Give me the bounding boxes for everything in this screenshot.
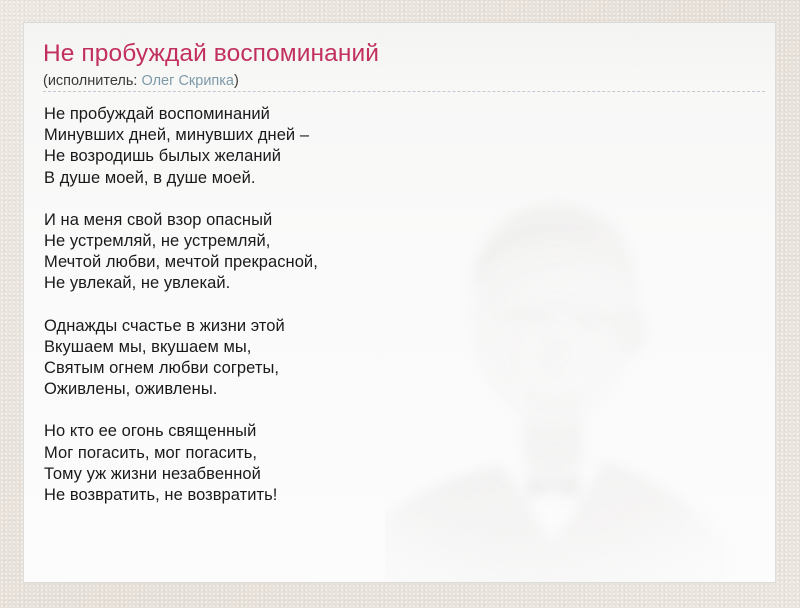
lyric-line: Святым огнем любви согреты, [44, 358, 765, 379]
lyrics-stanza: И на меня свой взор опасный Не устремляй… [44, 210, 765, 295]
lyric-line: Но кто ее огонь священный [44, 421, 765, 442]
lyric-line: Однажды счастье в жизни этой [44, 316, 765, 337]
page-background: Не пробуждай воспоминаний (исполнитель: … [0, 0, 800, 608]
lyrics-body: Не пробуждай воспоминаний Минувших дней,… [44, 104, 765, 506]
lyric-line: Минувших дней, минувших дней – [44, 125, 765, 146]
lyrics-stanza: Но кто ее огонь священный Мог погасить, … [44, 421, 765, 506]
performer-suffix-label: ) [234, 73, 239, 89]
header-divider [43, 91, 765, 92]
lyric-line: Не устремляй, не устремляй, [44, 231, 765, 252]
page-title: Не пробуждай воспоминаний [43, 39, 759, 69]
lyric-line: Мог погасить, мог погасить, [44, 443, 765, 464]
lyrics-stanza: Не пробуждай воспоминаний Минувших дней,… [44, 104, 765, 189]
performer-link[interactable]: Олег Скрипка [141, 73, 234, 89]
lyric-line: Вкушаем мы, вкушаем мы, [44, 337, 765, 358]
lyric-line: Не увлекай, не увлекай. [44, 273, 765, 294]
lyric-line: Тому уж жизни незабвенной [44, 464, 765, 485]
lyric-line: Мечтой любви, мечтой прекрасной, [44, 252, 765, 273]
lyric-line: Оживлены, оживлены. [44, 379, 765, 400]
lyric-line: Не возвратить, не возвратить! [44, 485, 765, 506]
performer-prefix-label: (исполнитель: [43, 73, 141, 89]
lyrics-card: Не пробуждай воспоминаний (исполнитель: … [23, 22, 776, 583]
lyrics-header: Не пробуждай воспоминаний (исполнитель: … [43, 39, 759, 91]
lyric-line: Не возродишь былых желаний [44, 146, 765, 167]
lyrics-stanza: Однажды счастье в жизни этой Вкушаем мы,… [44, 316, 765, 401]
lyric-line: В душе моей, в душе моей. [44, 168, 765, 189]
lyric-line: Не пробуждай воспоминаний [44, 104, 765, 125]
performer-line: (исполнитель: Олег Скрипка) [43, 71, 759, 91]
lyric-line: И на меня свой взор опасный [44, 210, 765, 231]
